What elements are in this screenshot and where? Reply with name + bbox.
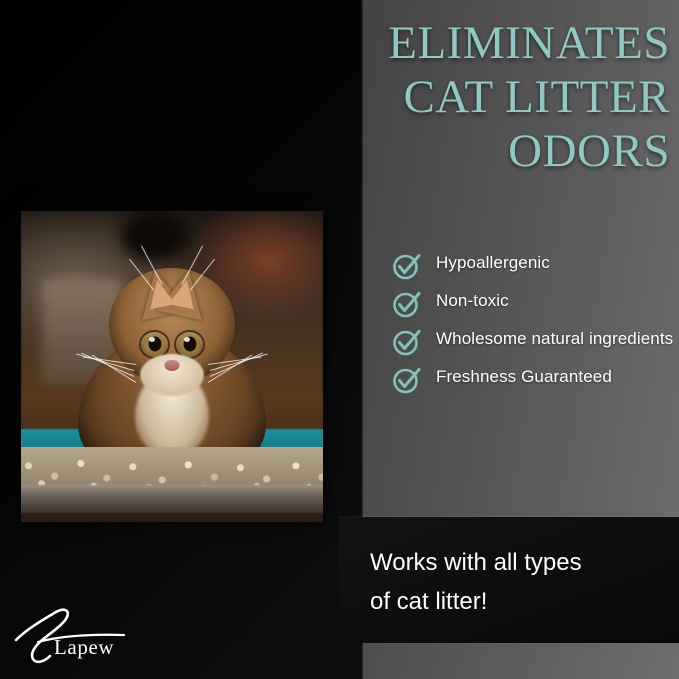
kitten-eye-left (141, 332, 168, 357)
check-circle-icon (392, 365, 422, 395)
callout-text: Works with all types of cat litter! (370, 543, 650, 621)
kitten-nose (165, 360, 180, 371)
callout-line-1: Works with all types (370, 543, 650, 582)
check-circle-icon (392, 327, 422, 357)
kitten-photo (21, 211, 323, 522)
headline-line-1: ELIMINATES (250, 16, 670, 70)
headline-line-2: CAT LITTER (250, 70, 670, 124)
list-item-label: Non-toxic (436, 288, 509, 313)
list-item: Non-toxic (392, 288, 677, 319)
litter-box-edge (21, 485, 323, 513)
list-item-label: Freshness Guaranteed (436, 364, 612, 389)
headline: ELIMINATES CAT LITTER ODORS (250, 16, 670, 178)
headline-line-3: ODORS (250, 124, 670, 178)
check-circle-icon (392, 289, 422, 319)
list-item: Freshness Guaranteed (392, 364, 677, 395)
callout-line-2: of cat litter! (370, 582, 650, 621)
check-circle-icon (392, 251, 422, 281)
list-item: Wholesome natural ingredients (392, 326, 677, 357)
callout-box: Works with all types of cat litter! (339, 517, 679, 643)
list-item-label: Hypoallergenic (436, 250, 550, 275)
kitten-eye-right (176, 332, 203, 357)
kitten-figure (74, 246, 270, 482)
list-item-label: Wholesome natural ingredients (436, 326, 673, 351)
list-item: Hypoallergenic (392, 250, 677, 281)
kitten-eye-glint-left (149, 337, 155, 342)
product-ad-image: ELIMINATES CAT LITTER ODORS (0, 0, 679, 679)
brand-logo: Lapew (12, 604, 152, 666)
feature-list: Hypoallergenic Non-toxic Wholesome natur… (392, 250, 677, 402)
brand-name: Lapew (54, 635, 114, 660)
kitten-head (109, 268, 235, 384)
kitten-eye-glint-right (184, 337, 190, 342)
